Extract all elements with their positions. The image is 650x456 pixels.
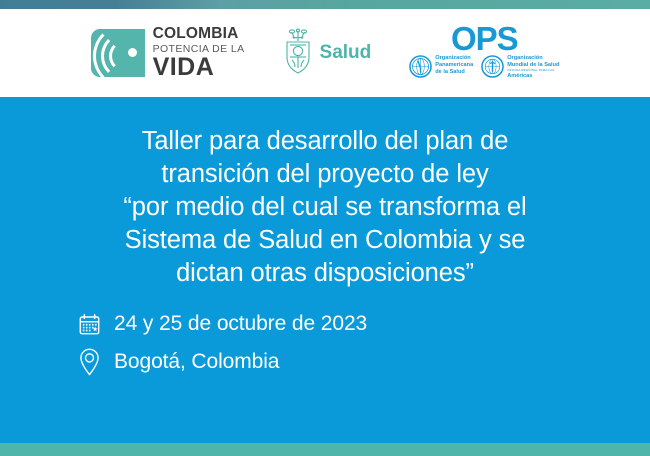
event-poster: COLOMBIA POTENCIA DE LA VIDA: [0, 0, 650, 456]
event-location-row: Bogotá, Colombia: [76, 343, 367, 381]
paho-line2: Panamericana: [435, 62, 473, 68]
ops-logo: OPS Organización Panameri: [409, 23, 559, 83]
salud-logo: Salud: [283, 28, 372, 79]
event-title-line-5: dictan otras disposiciones”: [0, 257, 650, 290]
paho-line1: Organización: [435, 55, 470, 61]
event-meta-list: 24 y 25 de octubre de 2023 Bogotá, Colom…: [76, 305, 367, 381]
salud-logo-label: Salud: [320, 42, 372, 64]
who-line1: Organización: [507, 55, 542, 61]
colombia-logo: COLOMBIA POTENCIA DE LA VIDA: [91, 26, 245, 80]
location-pin-icon: [76, 348, 102, 376]
ops-acronym: OPS: [451, 23, 518, 54]
poster-body: Taller para desarrollo del plan de trans…: [0, 97, 650, 443]
ops-organizations-row: Organización Panamericana de la Salud: [409, 55, 559, 83]
top-accent-strip: [0, 0, 650, 9]
paho-globe-emblem-icon: [409, 55, 432, 83]
colombia-coat-of-arms-icon: [283, 28, 313, 79]
colombia-logo-line3: VIDA: [153, 55, 245, 80]
event-title-line-3: “por medio del cual se transforma el: [0, 191, 650, 224]
event-title: Taller para desarrollo del plan de trans…: [0, 125, 650, 289]
who-line3: Américas: [507, 73, 559, 80]
logo-header-bar: COLOMBIA POTENCIA DE LA VIDA: [0, 9, 650, 97]
event-title-line-1: Taller para desarrollo del plan de: [0, 125, 650, 158]
signal-arc-inner: [109, 40, 141, 72]
calendar-icon: [76, 310, 102, 338]
event-location-text: Bogotá, Colombia: [114, 350, 279, 374]
colombia-logo-text: COLOMBIA POTENCIA DE LA VIDA: [153, 26, 245, 80]
colombia-signal-mark-icon: [91, 29, 145, 77]
paho-line3: de la Salud: [435, 69, 465, 75]
event-title-line-2: transición del proyecto de ley: [0, 158, 650, 191]
signal-dot: [128, 48, 137, 57]
colombia-logo-line1: COLOMBIA: [153, 26, 245, 42]
paho-name: Organización Panamericana de la Salud: [435, 55, 473, 76]
who-emblem-icon: [481, 55, 504, 83]
bottom-accent-strip: [0, 443, 650, 456]
event-date-text: 24 y 25 de octubre de 2023: [114, 312, 367, 336]
event-title-line-4: Sistema de Salud en Colombia y se: [0, 224, 650, 257]
event-date-row: 24 y 25 de octubre de 2023: [76, 305, 367, 343]
who-name: Organización Mundial de la Salud OFICINA…: [507, 55, 559, 80]
who-block: Organización Mundial de la Salud OFICINA…: [481, 55, 559, 83]
paho-block: Organización Panamericana de la Salud: [409, 55, 473, 83]
